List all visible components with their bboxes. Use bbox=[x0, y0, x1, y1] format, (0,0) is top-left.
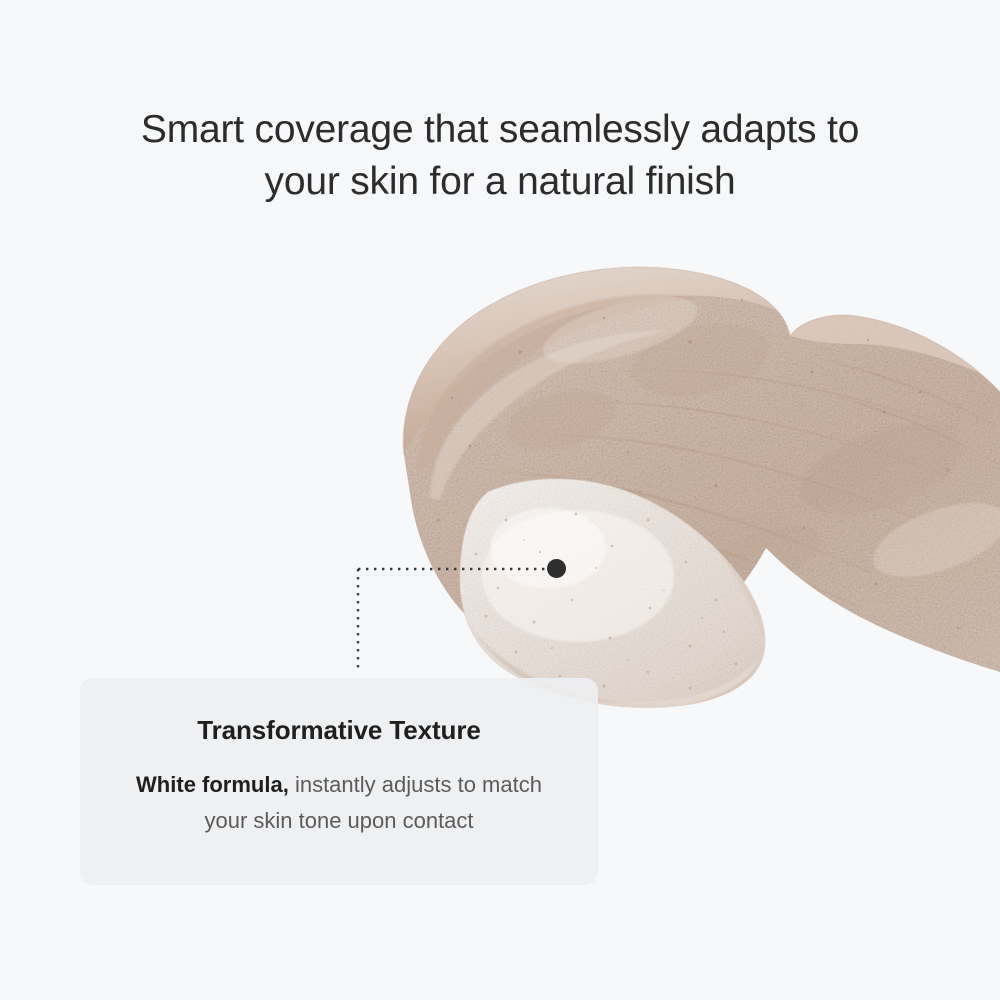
card-title: Transformative Texture bbox=[80, 714, 598, 746]
dotted-connector-line bbox=[340, 550, 580, 690]
callout-dot bbox=[547, 559, 566, 578]
promo-graphic: Smart coverage that seamlessly adapts to… bbox=[0, 0, 1000, 1000]
card-body-lead: White formula, bbox=[136, 772, 289, 797]
info-card: Transformative Texture White formula, in… bbox=[80, 678, 598, 885]
card-body: White formula, instantly adjusts to matc… bbox=[80, 767, 598, 839]
page-title: Smart coverage that seamlessly adapts to… bbox=[0, 104, 1000, 208]
